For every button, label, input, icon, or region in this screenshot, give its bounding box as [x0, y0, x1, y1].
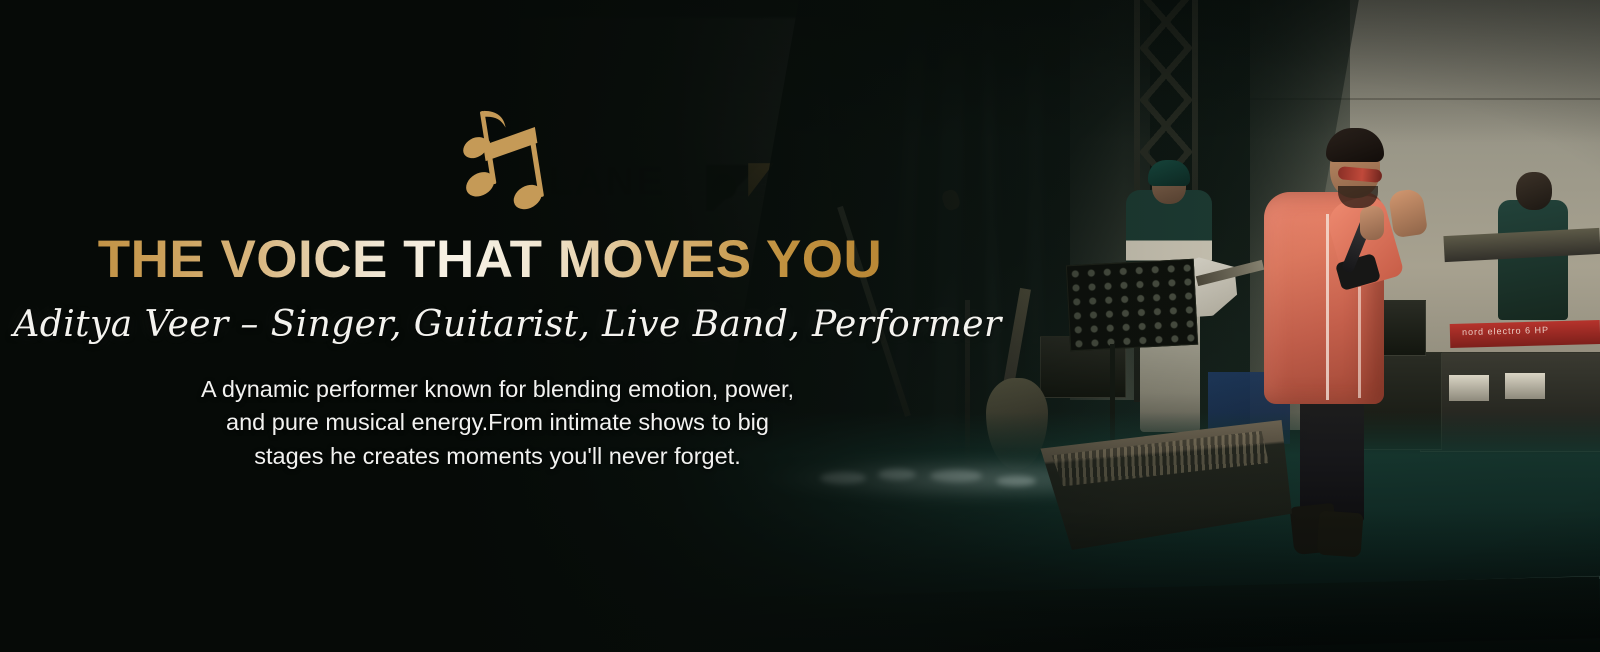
hero-content: THE VOICE THAT MOVES YOU Aditya Veer – S…: [0, 0, 980, 652]
description-line-1: A dynamic performer known for blending e…: [201, 376, 794, 402]
page-title: THE VOICE THAT MOVES YOU: [0, 232, 980, 288]
music-notes-icon: [452, 106, 560, 218]
hero-subtitle: Aditya Veer – Singer, Guitarist, Live Ba…: [0, 304, 1015, 345]
hero-description: A dynamic performer known for blending e…: [110, 373, 885, 473]
description-line-3: stages he creates moments you'll never f…: [254, 443, 740, 469]
description-line-2: and pure musical energy.From intimate sh…: [226, 409, 769, 435]
hero-banner: LANE: [0, 0, 1600, 652]
